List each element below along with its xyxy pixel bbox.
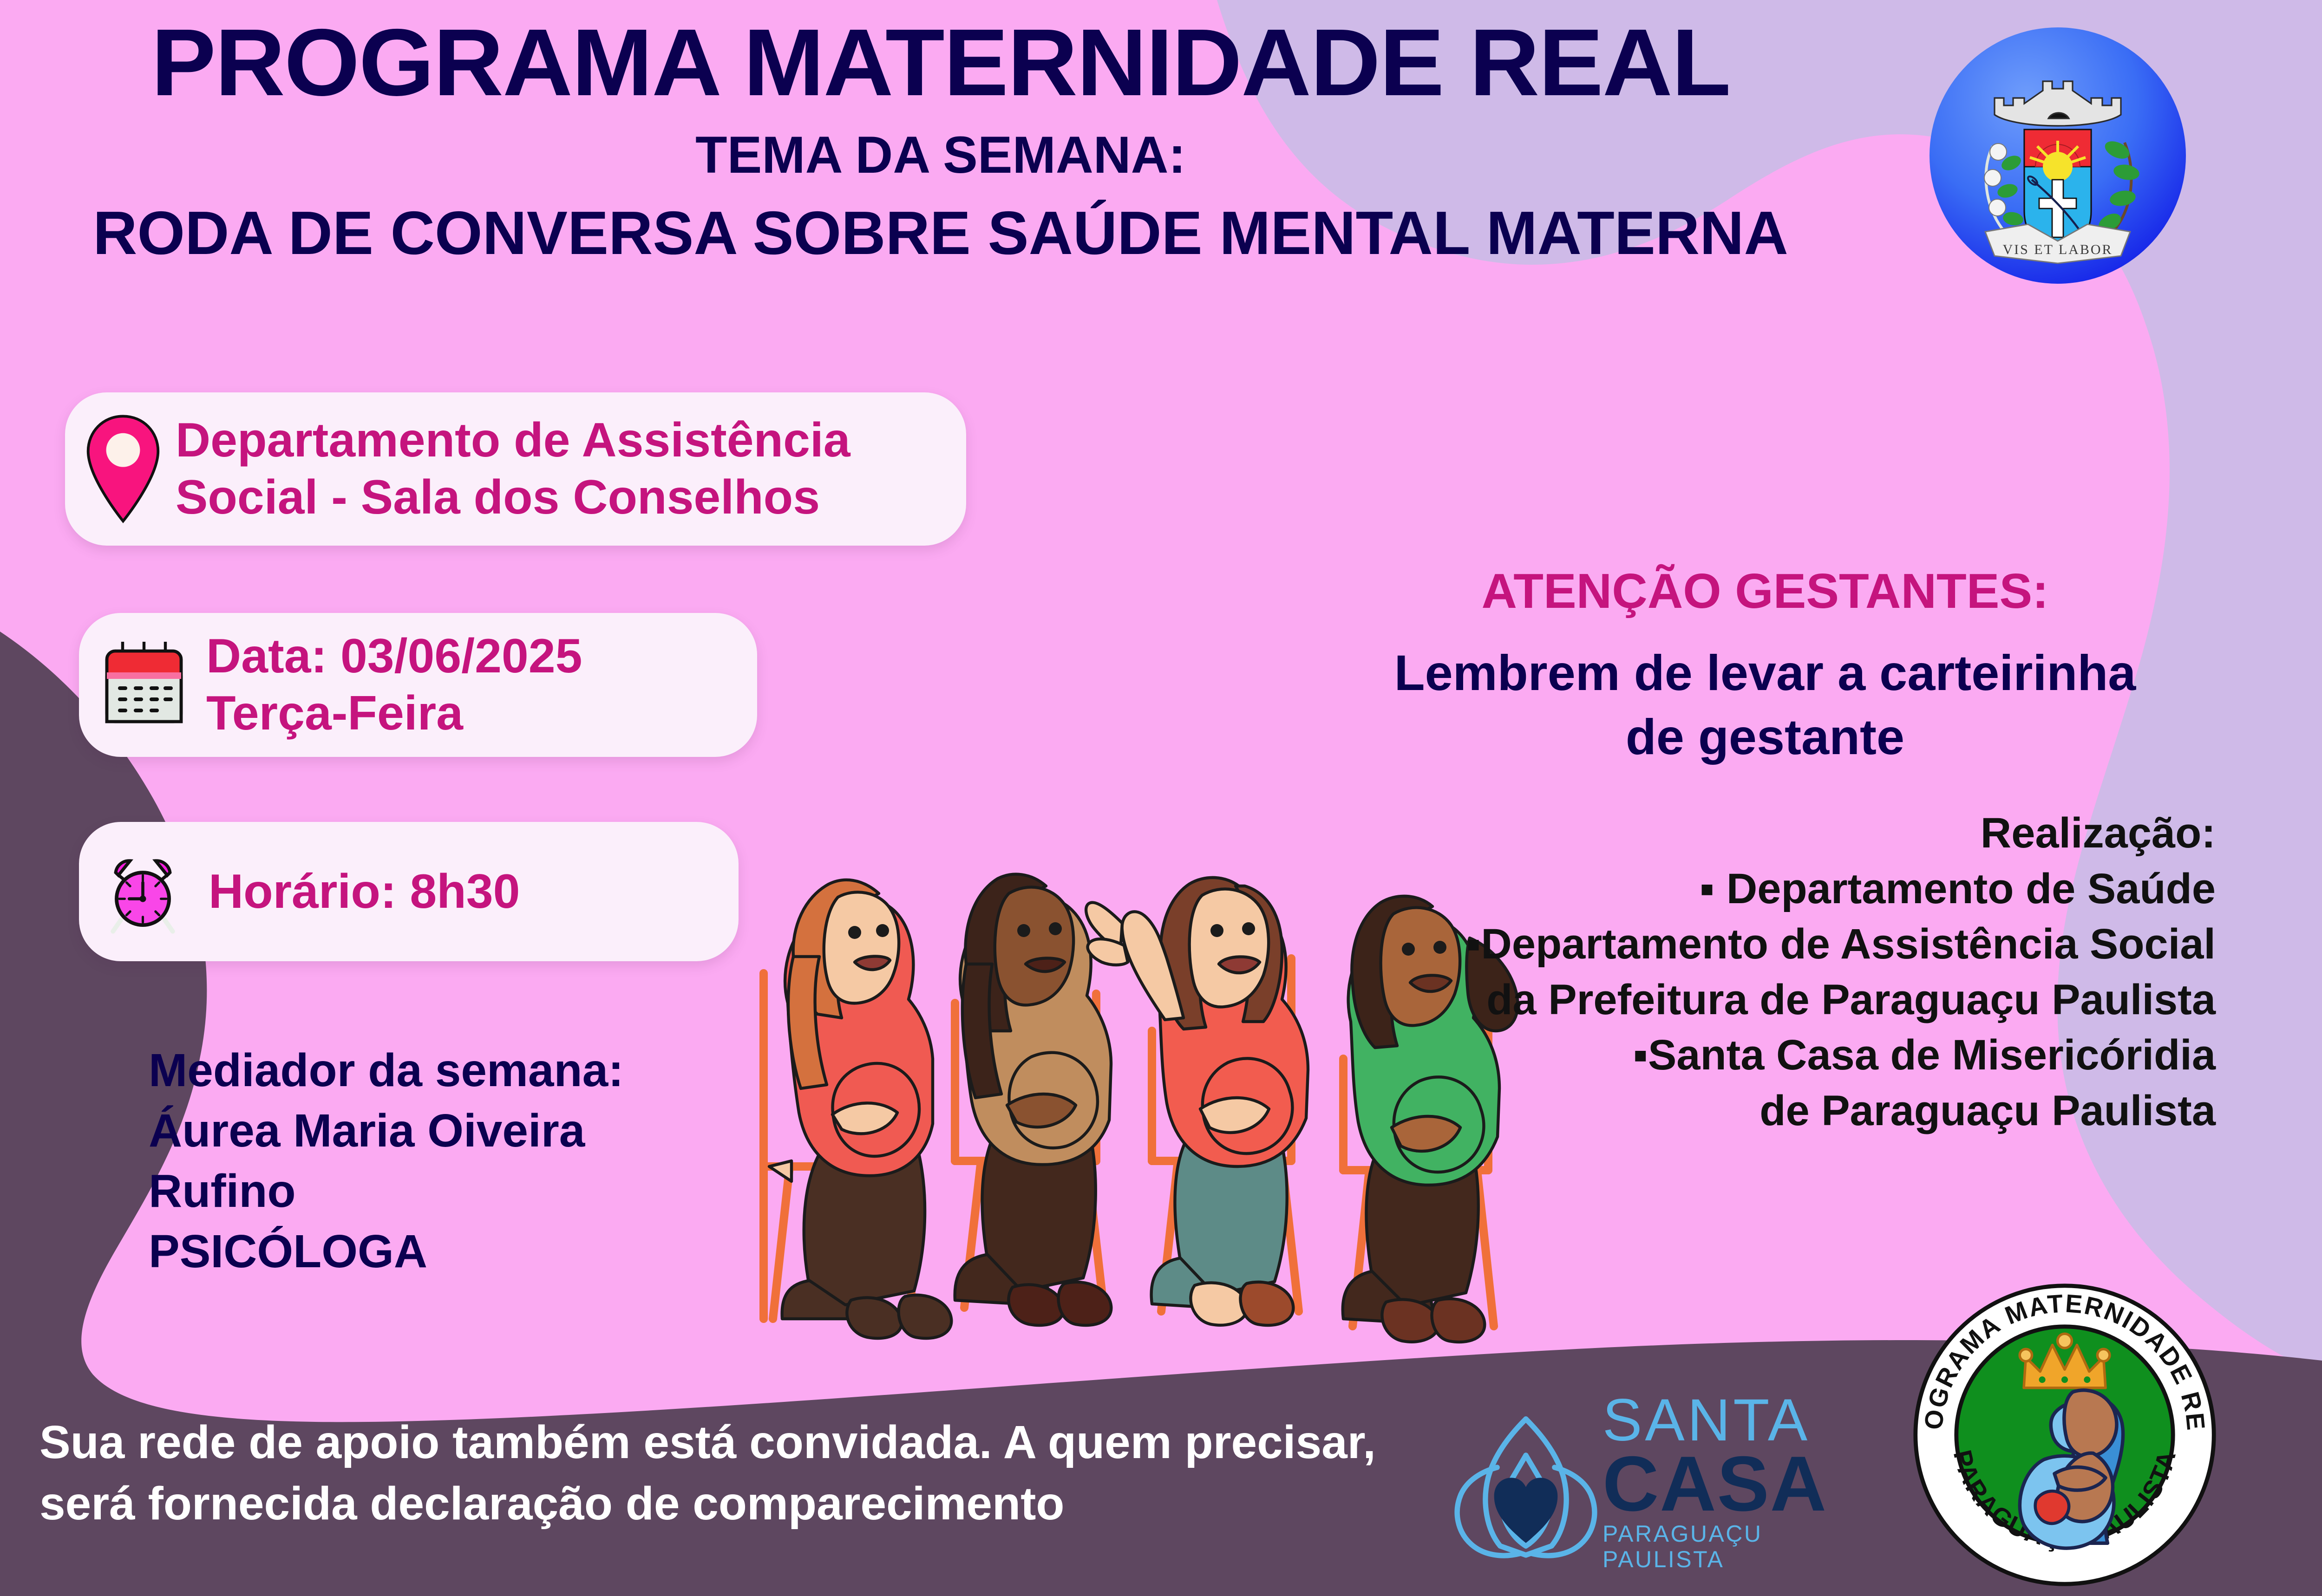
alarm-clock-icon (98, 845, 188, 938)
calendar-icon (98, 636, 190, 734)
mediator-block: Mediador da semana: Áurea Maria Oiveira … (149, 1040, 624, 1282)
coat-motto: VIS ET LABOR (2002, 242, 2113, 257)
hands-heart-icon (1449, 1402, 1603, 1565)
attention-body: Lembrem de levar a carteirinha de gestan… (1338, 641, 2192, 769)
bottom-note: Sua rede de apoio também está convidada.… (39, 1412, 1456, 1534)
info-pill-time-text: Horário: 8h30 (209, 863, 520, 920)
info-pill-date-text: Data: 03/06/2025 Terça-Feira (206, 628, 582, 742)
info-pill-location-text: Departamento de Assistência Social - Sal… (176, 412, 850, 526)
location-pin-icon (84, 412, 163, 526)
realizacao-item: ▪Departamento de Assistência Social (1384, 917, 2216, 972)
header-block: PROGRAMA MATERNIDADE REAL TEMA DA SEMANA… (0, 14, 1881, 265)
realizacao-label: Realização: (1384, 806, 2216, 861)
realizacao-item: da Prefeitura de Paraguaçu Paulista (1384, 972, 2216, 1028)
info-pill-time: Horário: 8h30 (79, 822, 739, 961)
realizacao-item: de Paraguaçu Paulista (1384, 1083, 2216, 1139)
realizacao-item: ▪Santa Casa de Misericóridia (1384, 1028, 2216, 1083)
santa-casa-line3: PARAGUAÇU PAULISTA (1603, 1521, 1867, 1572)
santa-casa-line2: CASA (1603, 1448, 1867, 1520)
info-pill-location: Departamento de Assistência Social - Sal… (65, 392, 966, 546)
theme-title: RODA DE CONVERSA SOBRE SAÚDE MENTAL MATE… (0, 201, 1881, 266)
attention-title: ATENÇÃO GESTANTES: (1370, 564, 2160, 619)
municipal-coat-of-arms-icon: VIS ET LABOR (1928, 26, 2188, 286)
realizacao-item: ▪ Departamento de Saúde (1384, 861, 2216, 917)
info-pill-date: Data: 03/06/2025 Terça-Feira (79, 613, 757, 757)
page-title: PROGRAMA MATERNIDADE REAL (0, 14, 1900, 111)
subtitle-label: TEMA DA SEMANA: (0, 128, 1881, 182)
program-maternidade-real-seal: PROGRAMA MATERNIDADE REAL PARAGUAÇU PAUL… (1902, 1282, 2227, 1588)
realizacao-block: Realização: ▪ Departamento de Saúde ▪Dep… (1384, 806, 2230, 1139)
poster-canvas: PROGRAMA MATERNIDADE REAL TEMA DA SEMANA… (0, 0, 2322, 1596)
santa-casa-wordmark: SANTA CASA PARAGUAÇU PAULISTA (1603, 1393, 1867, 1572)
santa-casa-logo: SANTA CASA PARAGUAÇU PAULISTA (1449, 1398, 1867, 1579)
